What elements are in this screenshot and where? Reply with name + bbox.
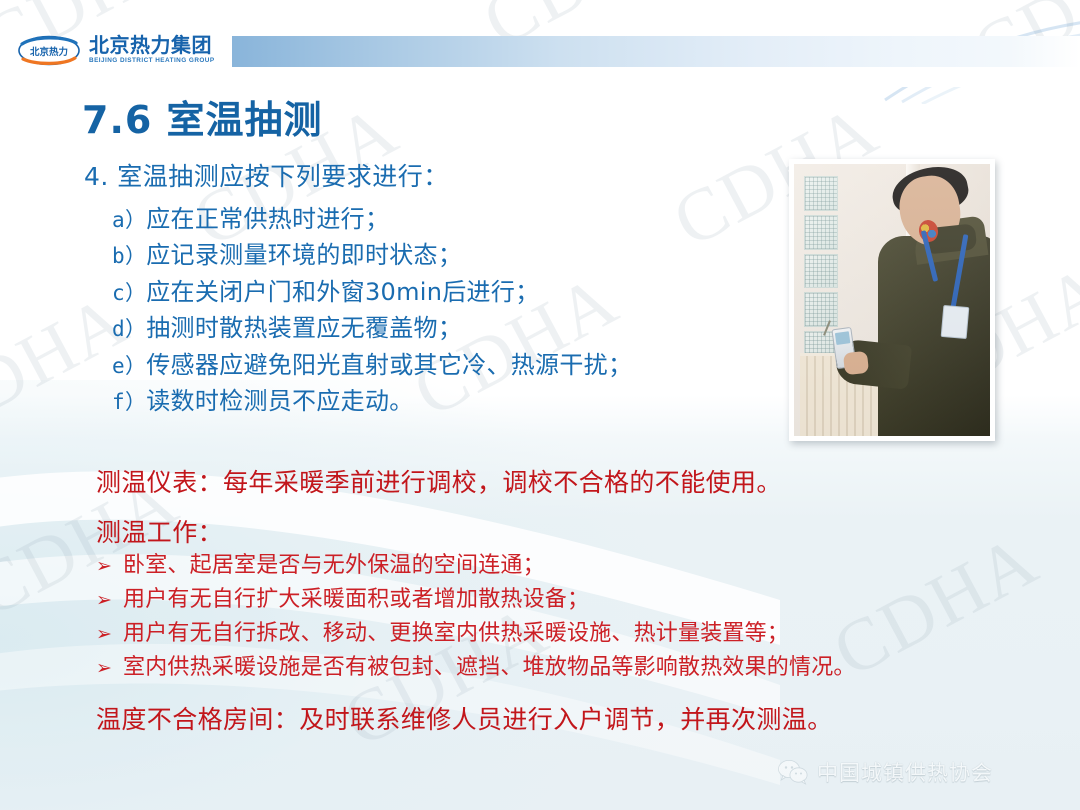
blue-sub-list: a）应在正常供热时进行； b）应记录测量环境的即时状态； c）应在关闭户门和外窗… [84, 201, 784, 420]
company-logo: 北京热力 北京热力集团 BEIJING DISTRICT HEATING GRO… [18, 27, 233, 73]
list-item: b）应记录测量环境的即时状态； [84, 237, 784, 273]
arrow-bullet-icon: ➢ [96, 552, 123, 581]
list-item: d）抽测时散热装置应无覆盖物； [84, 310, 784, 346]
list-item-label: c） [112, 281, 146, 305]
list-item-label: a） [112, 208, 146, 232]
list-item-label: f） [112, 390, 146, 414]
list-item-text: 应记录测量环境的即时状态； [146, 241, 462, 269]
logo-text-block: 北京热力集团 BEIJING DISTRICT HEATING GROUP [89, 35, 215, 64]
list-item-label: e） [112, 354, 146, 378]
list-item-text: 应在关闭户门和外窗30min后进行； [146, 278, 539, 306]
measurement-work-heading: 测温工作： [96, 513, 223, 549]
logo-company-en: BEIJING DISTRICT HEATING GROUP [89, 58, 215, 64]
list-item-text: 卧室、起居室是否与无外保温的空间连通； [123, 549, 545, 583]
list-item: ➢ 卧室、起居室是否与无外保温的空间连通； [96, 549, 856, 583]
measurement-checklist: ➢ 卧室、起居室是否与无外保温的空间连通； ➢ 用户有无自行扩大采暖面积或者增加… [96, 549, 856, 685]
list-item-text: 读数时检测员不应走动。 [146, 387, 413, 415]
list-item-text: 抽测时散热装置应无覆盖物； [146, 314, 462, 342]
list-item-label: b） [112, 244, 146, 268]
list-item-text: 室内供热采暖设施是否有被包封、遮挡、堆放物品等影响散热效果的情况。 [123, 651, 856, 685]
list-item: a）应在正常供热时进行； [84, 201, 784, 237]
list-item-text: 用户有无自行拆改、移动、更换室内供热采暖设施、热计量装置等； [123, 617, 789, 651]
blue-lead-line: 4. 室温抽测应按下列要求进行： [84, 157, 784, 193]
unqualified-room-line: 温度不合格房间：及时联系维修人员进行入户调节，并再次测温。 [96, 700, 833, 736]
beijing-heating-emblem-icon: 北京热力 [18, 34, 80, 67]
blue-content-block: 4. 室温抽测应按下列要求进行： a）应在正常供热时进行； b）应记录测量环境的… [84, 157, 784, 420]
arrow-bullet-icon: ➢ [96, 620, 123, 649]
list-item-label: d） [112, 317, 146, 341]
list-item: ➢ 用户有无自行拆改、移动、更换室内供热采暖设施、热计量装置等； [96, 617, 856, 651]
list-item: e）传感器应避免阳光直射或其它冷、热源干扰； [84, 347, 784, 383]
list-item: c）应在关闭户门和外窗30min后进行； [84, 274, 784, 310]
list-item-text: 用户有无自行扩大采暖面积或者增加散热设备； [123, 583, 589, 617]
list-item: ➢ 用户有无自行扩大采暖面积或者增加散热设备； [96, 583, 856, 617]
photo-content [794, 164, 990, 436]
svg-text:北京热力: 北京热力 [30, 46, 68, 58]
list-item-text: 传感器应避免阳光直射或其它冷、热源干扰； [146, 351, 632, 379]
instrument-calibration-line: 测温仪表：每年采暖季前进行调校，调校不合格的不能使用。 [96, 463, 782, 499]
photo-overlay [794, 164, 990, 436]
list-item: ➢ 室内供热采暖设施是否有被包封、遮挡、堆放物品等影响散热效果的情况。 [96, 651, 856, 685]
arrow-bullet-icon: ➢ [96, 586, 123, 615]
slide-canvas: CDHA CDHA CDHA CDHA CDHA CDHA CDHA CDHA … [0, 0, 1080, 810]
list-item-text: 应在正常供热时进行； [146, 205, 389, 233]
account-name-label: 中国城镇供热协会 [817, 757, 993, 787]
wechat-account-watermark: 中国城镇供热协会 [778, 757, 993, 787]
list-item: f）读数时检测员不应走动。 [84, 383, 784, 419]
page-title: 7.6 室温抽测 [82, 89, 323, 144]
logo-company-cn: 北京热力集团 [89, 35, 215, 55]
wechat-icon [778, 759, 808, 785]
arrow-bullet-icon: ➢ [96, 654, 123, 683]
inspection-photo [789, 159, 995, 441]
